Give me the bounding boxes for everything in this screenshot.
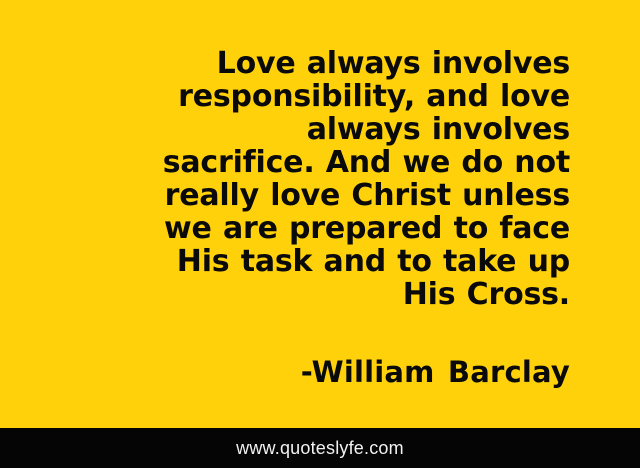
quote-line: responsibility, and love: [0, 80, 570, 113]
quote-line: we are prepared to face: [0, 212, 570, 245]
quote-card: Love always involves responsibility, and…: [0, 0, 640, 468]
quote-line: always involves: [0, 113, 570, 146]
quote-author: -William Barclay: [0, 355, 570, 389]
quote-text-block: Love always involves responsibility, and…: [0, 47, 570, 311]
website-url[interactable]: www.quoteslyfe.com: [236, 438, 404, 458]
quote-line: sacrifice. And we do not: [0, 146, 570, 179]
quote-line: really love Christ unless: [0, 179, 570, 212]
footer-bar: www.quoteslyfe.com: [0, 428, 640, 468]
quote-line: His task and to take up: [0, 245, 570, 278]
quote-line: His Cross.: [0, 278, 570, 311]
quote-line: Love always involves: [0, 47, 570, 80]
